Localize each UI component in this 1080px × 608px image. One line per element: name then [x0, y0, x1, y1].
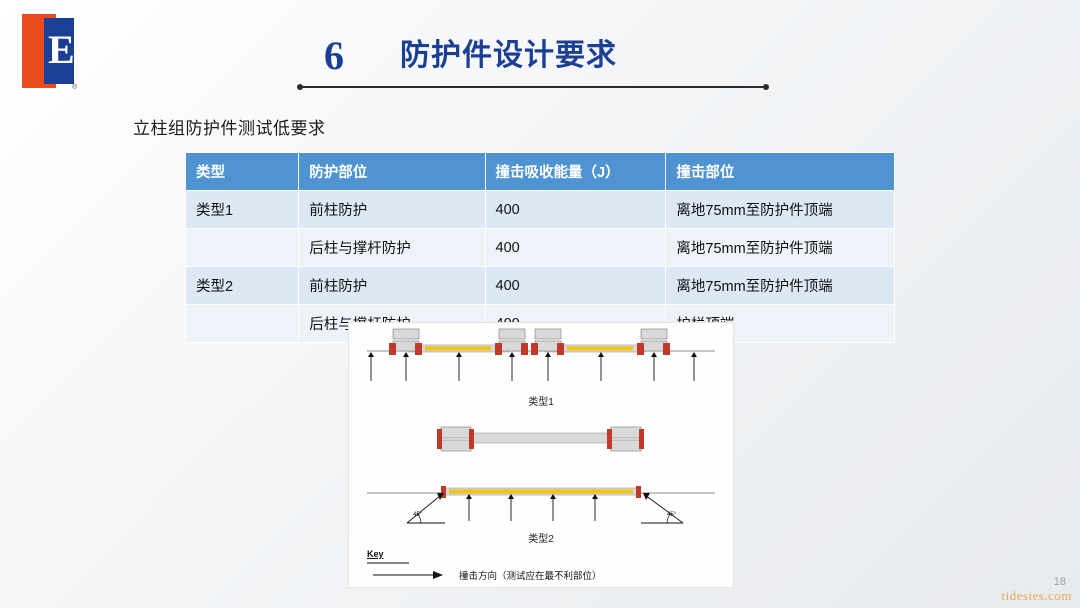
logo-trademark-icon: ®: [72, 84, 77, 91]
table-header-part: 防护部位: [299, 153, 485, 191]
figure-caption-type2: 类型2: [349, 530, 733, 545]
page-number: 18: [1054, 576, 1066, 588]
title-row: 6 防护件设计要求: [300, 36, 780, 76]
key-label: Key: [367, 549, 384, 559]
title-divider: [300, 86, 766, 88]
table-row: 后柱与撑杆防护 400 离地75mm至防护件顶端: [186, 229, 895, 267]
angle-left-label: 45°: [413, 512, 423, 518]
table-header-type: 类型: [186, 153, 299, 191]
cell-location: 离地75mm至防护件顶端: [666, 267, 895, 305]
figure-caption-type1: 类型1: [349, 393, 733, 408]
table-row: 类型2 前柱防护 400 离地75mm至防护件顶端: [186, 267, 895, 305]
diagram-svg: 45° 45°: [349, 323, 733, 587]
cell-energy: 400: [485, 191, 666, 229]
section-number: 6: [300, 36, 400, 76]
page-title: 防护件设计要求: [400, 36, 617, 76]
subtitle: 立柱组防护件测试低要求: [133, 114, 326, 139]
cell-energy: 400: [485, 229, 666, 267]
cell-type: [186, 229, 299, 267]
cell-type: 类型2: [186, 267, 299, 305]
slide-header: 6 防护件设计要求: [300, 36, 780, 88]
key-text: 撞击方向（测试应在最不利部位）: [459, 568, 602, 582]
cell-type: 类型1: [186, 191, 299, 229]
table-header-energy: 撞击吸收能量（J）: [485, 153, 666, 191]
table-row: 类型1 前柱防护 400 离地75mm至防护件顶端: [186, 191, 895, 229]
table-header-location: 撞击部位: [666, 153, 895, 191]
cell-energy: 400: [485, 267, 666, 305]
cell-location: 离地75mm至防护件顶端: [666, 229, 895, 267]
watermark: tidesies.com: [1001, 588, 1072, 604]
logo-letter: E: [48, 28, 75, 72]
spec-table: 类型 防护部位 撞击吸收能量（J） 撞击部位 类型1 前柱防护 400 离地75…: [185, 152, 895, 343]
cell-location: 离地75mm至防护件顶端: [666, 191, 895, 229]
table-header-row: 类型 防护部位 撞击吸收能量（J） 撞击部位: [186, 153, 895, 191]
cell-part: 前柱防护: [299, 267, 485, 305]
cell-part: 后柱与撑杆防护: [299, 229, 485, 267]
cell-part: 前柱防护: [299, 191, 485, 229]
company-logo: E ®: [22, 14, 74, 88]
rack-protection-diagram: 45° 45° 类型1 类型2 Key 撞击方向（测试应在最不利部位）: [348, 322, 734, 588]
cell-type: [186, 305, 299, 343]
angle-right-label: 45°: [667, 512, 677, 518]
